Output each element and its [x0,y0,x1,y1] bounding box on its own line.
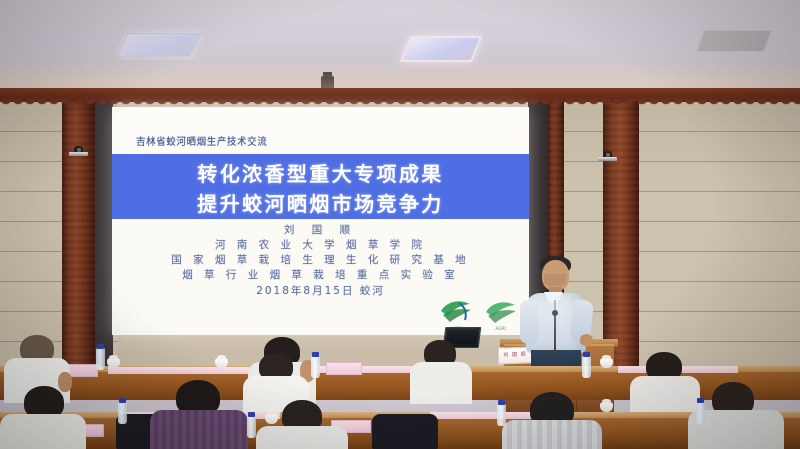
wall-camera-right-icon [598,150,617,161]
ceiling [0,0,800,92]
water-bottle-1 [96,344,105,370]
projection-screen: 吉林省蛟河晒烟生产技术交流 转化浓香型重大专项成果 提升蛟河晒烟市场竞争力 刘 … [112,107,529,335]
wood-column-left [62,100,95,378]
slide-date-place: 2018年8月15日 蛟河 [112,283,529,298]
wood-column-right [603,100,639,378]
slide-affiliation-1: 河 南 农 业 大 学 烟 草 学 院 [112,237,529,252]
water-bottle-2 [311,352,320,378]
water-bottle-6 [497,400,506,426]
slide-title-line-2: 提升蛟河晒烟市场竞争力 [112,188,529,217]
slide-title-band: 转化浓香型重大专项成果 提升蛟河晒烟市场竞争力 [112,154,529,219]
back-table-highlight-1 [108,367,250,374]
ceiling-light-panel-2 [400,36,483,62]
ceiling-light-panel-3 [696,30,772,52]
slide-logo-group: AGRI AGRI [431,297,523,331]
back-name-card-2 [326,362,362,375]
partner-logo-text: AGRI [481,326,521,331]
screen-frame-left [95,102,113,378]
conference-room-photo: 吉林省蛟河晒烟生产技术交流 转化浓香型重大专项成果 提升蛟河晒烟市场竞争力 刘 … [0,0,800,449]
slide-header-area: 吉林省蛟河晒烟生产技术交流 [112,107,529,154]
slide-credits-area: 刘 国 顺 河 南 农 业 大 学 烟 草 学 院 国 家 烟 草 栽 培 生 … [112,219,529,335]
presenter-left-arm [520,300,538,344]
chair-back-2 [372,414,438,449]
partner-logo-icon: AGRI [481,297,521,331]
presenter-figure [518,252,604,377]
water-bottle-5 [247,412,256,438]
microphone-icon [554,314,556,358]
water-bottle-7 [696,398,705,424]
slide-title-line-1: 转化浓香型重大专项成果 [112,158,529,187]
wall-camera-left-icon [69,145,88,156]
university-logo-icon: AGRI [437,297,477,331]
water-bottle-4 [118,398,127,424]
water-bottle-3 [582,352,591,378]
slide-affiliation-2: 国 家 烟 草 栽 培 生 理 生 化 研 究 基 地 [112,252,529,267]
cornice-scallop-trim [0,99,800,106]
slide-affiliation-3: 烟 草 行 业 烟 草 栽 培 重 点 实 验 室 [112,267,529,282]
slide-presenter-name: 刘 国 顺 [112,222,529,237]
ceiling-light-panel-1 [116,33,202,57]
slide-header-text: 吉林省蛟河晒烟生产技术交流 [136,134,267,149]
